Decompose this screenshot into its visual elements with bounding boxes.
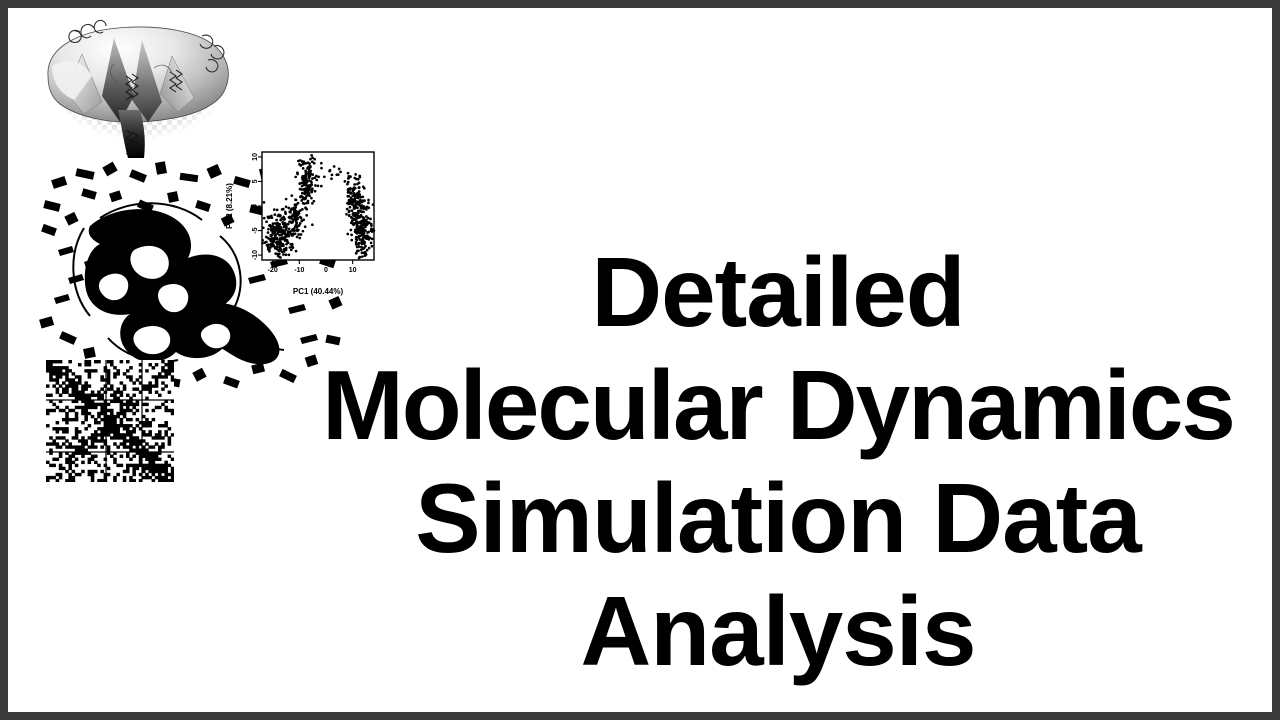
contact-map-cell [56, 366, 60, 369]
pca-data-point [290, 207, 293, 210]
contact-map-cell [110, 412, 114, 415]
contact-map-cell [81, 391, 85, 394]
contact-map-cell [78, 448, 82, 451]
contact-map-cell [155, 363, 159, 366]
contact-map-cell [158, 394, 162, 397]
contact-map-cell [75, 415, 79, 418]
pca-data-point [358, 231, 361, 234]
contact-map-cell [164, 461, 168, 464]
contact-map-cell [62, 467, 66, 470]
contact-map-cell [91, 436, 95, 439]
contact-map-cell [110, 409, 114, 412]
contact-map-cell [84, 418, 88, 421]
contact-map-cell [113, 427, 117, 430]
contact-map-cell [75, 473, 79, 476]
pca-data-point [354, 200, 357, 203]
contact-map-cell [129, 448, 133, 451]
contact-map-cell [107, 387, 111, 390]
contact-map-cell [158, 372, 162, 375]
contact-map-cell [148, 421, 152, 424]
contact-map-cell [78, 391, 82, 394]
contact-map-cell [168, 409, 172, 412]
contact-map-cell [171, 433, 174, 436]
contact-map-cell [100, 418, 104, 421]
pca-data-point [363, 232, 366, 235]
contact-map-cell [100, 436, 104, 439]
pca-data-point [276, 246, 279, 249]
contact-map-cell [116, 427, 120, 430]
contact-map-cell [91, 476, 95, 479]
contact-map-cell [145, 467, 149, 470]
pca-data-point [351, 209, 354, 212]
pca-data-point [281, 231, 284, 234]
pca-data-point [338, 168, 341, 171]
contact-map-cell [145, 476, 149, 479]
contact-map-cell [81, 442, 85, 445]
contact-map-cell [88, 445, 92, 448]
contact-map-cell [123, 412, 127, 415]
pca-data-point [271, 234, 274, 237]
pca-data-point [315, 179, 318, 182]
pca-data-point [368, 222, 371, 225]
contact-map-cell [155, 476, 159, 479]
pca-data-point [276, 241, 279, 244]
contact-map-cell [59, 436, 63, 439]
contact-map-cell [155, 458, 159, 461]
pca-data-point [299, 222, 302, 225]
contact-map-cell [68, 378, 72, 381]
contact-map-cell [78, 473, 82, 476]
contact-map-cell [56, 442, 60, 445]
pca-data-point [308, 175, 311, 178]
pca-data-point [295, 250, 298, 253]
contact-map-cell [52, 409, 56, 412]
contact-map-cell [72, 387, 76, 390]
contact-map-cell [97, 464, 101, 467]
contact-map-cell [97, 360, 101, 363]
contact-map-cell [136, 403, 140, 406]
pca-data-point [262, 226, 265, 229]
contact-map-cell [152, 467, 156, 470]
contact-map-cell [78, 430, 82, 433]
contact-map-cell [46, 424, 50, 427]
contact-map-cell [120, 381, 124, 384]
contact-map-cell [68, 461, 72, 464]
contact-map-cell [88, 424, 92, 427]
contact-map-cell [46, 476, 50, 479]
pca-data-point [352, 223, 355, 226]
contact-map-cell [104, 458, 108, 461]
contact-map-cell [97, 412, 101, 415]
contact-map-cell [148, 455, 152, 458]
contact-map-cell [126, 455, 130, 458]
pca-data-point [296, 171, 299, 174]
contact-map-cell [161, 467, 165, 470]
contact-map-cell [52, 384, 56, 387]
contact-map-cell [152, 366, 156, 369]
contact-map-cell [104, 476, 108, 479]
contact-map-cell [148, 430, 152, 433]
pca-data-point [288, 246, 291, 249]
contact-map-cell [59, 369, 63, 372]
contact-map-cell [49, 409, 53, 412]
contact-map-cell [110, 418, 114, 421]
contact-map-cell [116, 424, 120, 427]
contact-map-cell [65, 378, 69, 381]
contact-map-cell [113, 418, 117, 421]
contact-map-cell [164, 372, 168, 375]
contact-map-cell [148, 467, 152, 470]
contact-map-cell [81, 394, 85, 397]
pca-data-point [305, 214, 308, 217]
contact-map-cell [104, 473, 108, 476]
contact-map-cell [158, 476, 162, 479]
pca-data-point [330, 177, 333, 180]
contact-map-cell [100, 375, 104, 378]
contact-map-cell [94, 418, 98, 421]
contact-map-cell [72, 436, 76, 439]
pca-data-point [351, 190, 354, 193]
contact-map-cell [59, 476, 63, 479]
contact-map-cell [65, 479, 69, 482]
title-line-4: Analysis [308, 575, 1248, 688]
contact-map-cell [46, 479, 50, 482]
pca-data-point [372, 203, 375, 206]
contact-map-cell [49, 372, 53, 375]
contact-map-cell [59, 372, 63, 375]
contact-map-cell [132, 467, 136, 470]
contact-map-cell [171, 360, 174, 363]
contact-map-cell [158, 473, 162, 476]
contact-map-cell [155, 406, 159, 409]
pca-data-point [278, 256, 281, 259]
contact-map-cell [132, 448, 136, 451]
contact-map-cell [145, 387, 149, 390]
contact-map-cell [100, 406, 104, 409]
contact-map-cell [84, 363, 88, 366]
contact-map-cell [75, 433, 79, 436]
contact-map-cell [110, 455, 114, 458]
contact-map-cell [123, 387, 127, 390]
contact-map-cell [110, 363, 114, 366]
contact-map-cell [104, 391, 108, 394]
pca-data-point [285, 198, 288, 201]
contact-map-cell [107, 424, 111, 427]
contact-map-cell [168, 455, 172, 458]
contact-map-cell [107, 430, 111, 433]
pca-data-point [296, 230, 299, 233]
contact-map-cell [65, 421, 69, 424]
contact-map-cell [104, 442, 108, 445]
contact-map-cell [84, 427, 88, 430]
pca-data-point [358, 196, 361, 199]
contact-map-cell [126, 418, 130, 421]
pca-data-point [363, 221, 366, 224]
contact-map-cell [62, 381, 66, 384]
contact-map-cell [145, 433, 149, 436]
contact-map-cell [49, 378, 53, 381]
contact-map-cell [88, 360, 92, 363]
pca-data-point [366, 223, 369, 226]
pca-data-point [297, 213, 300, 216]
pca-data-point [263, 201, 266, 204]
pca-data-point [301, 192, 304, 195]
contact-map-cell [104, 409, 108, 412]
pca-data-point [302, 219, 305, 222]
contact-map-cell [68, 445, 72, 448]
contact-map-cell [65, 445, 69, 448]
contact-map-cell [107, 421, 111, 424]
contact-map-cell [126, 467, 130, 470]
contact-map-cell [104, 366, 108, 369]
contact-map-cell [72, 461, 76, 464]
contact-map-cell [164, 409, 168, 412]
pca-data-point [298, 182, 301, 185]
contact-map-cell [107, 418, 111, 421]
contact-map-cell [81, 455, 85, 458]
contact-map-cell [107, 415, 111, 418]
contact-map-cell [81, 384, 85, 387]
pca-data-point [357, 210, 360, 213]
contact-map-cell [59, 455, 63, 458]
pca-data-point [281, 208, 284, 211]
contact-map-cell [91, 473, 95, 476]
contact-map-cell [65, 412, 69, 415]
contact-map-cell [171, 369, 174, 372]
contact-map-cell [104, 415, 108, 418]
contact-map-cell [168, 391, 172, 394]
contact-map-cell [155, 433, 159, 436]
free-energy-landscape-surface [22, 10, 254, 158]
contact-map-cell [104, 406, 108, 409]
pca-data-point [314, 190, 317, 193]
pca-data-point [282, 237, 285, 240]
contact-map-cell [107, 378, 111, 381]
contact-map-cell [155, 470, 159, 473]
contact-map-cell [91, 406, 95, 409]
pca-data-point [267, 246, 270, 249]
pca-data-point [362, 211, 365, 214]
contact-map-cell [88, 406, 92, 409]
pca-data-point [313, 162, 316, 165]
contact-map-cell [129, 430, 133, 433]
pca-data-point [288, 253, 291, 256]
contact-map-cell [152, 470, 156, 473]
contact-map-cell [88, 369, 92, 372]
pca-data-point [348, 201, 351, 204]
pca-data-point [293, 210, 296, 213]
contact-map-cell [84, 415, 88, 418]
contact-map-cell [88, 436, 92, 439]
contact-map-cell [123, 424, 127, 427]
contact-map-cell [75, 427, 79, 430]
contact-map-cell [75, 436, 79, 439]
contact-map-cell [81, 421, 85, 424]
contact-map-cell [88, 394, 92, 397]
contact-map-cell [68, 384, 72, 387]
pca-data-point [271, 237, 274, 240]
contact-map-cell [161, 369, 165, 372]
contact-map-cell [52, 464, 56, 467]
contact-map-cell [62, 391, 66, 394]
contact-map-cell [152, 479, 156, 482]
contact-map-cell [164, 363, 168, 366]
pca-data-point [311, 177, 314, 180]
contact-map-cell [152, 473, 156, 476]
pca-data-point [296, 236, 299, 239]
contact-map-cell [72, 391, 76, 394]
pca-data-point [369, 218, 372, 221]
contact-map-cell [161, 381, 165, 384]
pca-data-point [287, 223, 290, 226]
contact-map-cell [120, 436, 124, 439]
contact-map-cell [56, 381, 60, 384]
contact-map-cell [155, 436, 159, 439]
contact-map-cell [120, 360, 124, 363]
contact-map-cell [148, 391, 152, 394]
pca-data-point [300, 195, 303, 198]
contact-map-cell [132, 455, 136, 458]
contact-map-cell [129, 479, 133, 482]
contact-map-cell [62, 442, 66, 445]
contact-map-cell [155, 375, 159, 378]
contact-map-cell [126, 430, 130, 433]
contact-map-cell [110, 424, 114, 427]
pca-data-point [297, 160, 300, 163]
title-line-2: Molecular Dynamics [308, 349, 1248, 462]
pca-data-point [317, 184, 320, 187]
contact-map-cell [136, 467, 140, 470]
pca-data-point [300, 199, 303, 202]
contact-map-cell [75, 375, 79, 378]
pca-data-point [350, 229, 353, 232]
contact-map-cell [110, 421, 114, 424]
contact-map-cell [126, 406, 130, 409]
pca-data-point [287, 207, 290, 210]
contact-map-cell [100, 430, 104, 433]
pca-data-point [304, 192, 307, 195]
pca-data-point [296, 217, 299, 220]
contact-map-cell [75, 384, 79, 387]
pca-data-point [320, 185, 323, 188]
contact-map-cell [94, 369, 98, 372]
contact-map-cell [59, 473, 63, 476]
contact-map-cell [171, 473, 174, 476]
contact-map-cell [78, 406, 82, 409]
pca-data-point [267, 228, 270, 231]
contact-map-cell [65, 415, 69, 418]
contact-map-cell [164, 470, 168, 473]
contact-map-cell [161, 360, 165, 363]
contact-map-cell [161, 479, 165, 482]
contact-map-cell [129, 418, 133, 421]
contact-map-cell [104, 464, 108, 467]
contact-map-cell [120, 406, 124, 409]
contact-map-cell [94, 461, 98, 464]
contact-map-cell [168, 479, 172, 482]
contact-map-cell [116, 445, 120, 448]
pca-data-point [271, 216, 274, 219]
contact-map-cell [104, 418, 108, 421]
contact-map-cell [94, 433, 98, 436]
pca-data-point [309, 180, 312, 183]
contact-map-cell [84, 394, 88, 397]
pca-data-point [365, 215, 368, 218]
contact-map-cell [104, 421, 108, 424]
contact-map-cell [168, 372, 172, 375]
contact-map-cell [46, 363, 50, 366]
contact-map-cell [126, 464, 130, 467]
contact-map-cell [148, 433, 152, 436]
contact-map-cell [148, 445, 152, 448]
contact-map-cell [126, 394, 130, 397]
pca-data-point [362, 216, 365, 219]
contact-map-cell [49, 476, 53, 479]
contact-map-cell [88, 412, 92, 415]
contact-map-cell [100, 394, 104, 397]
contact-map-cell [123, 427, 127, 430]
contact-map-cell [164, 369, 168, 372]
contact-map-cell [94, 445, 98, 448]
contact-map-cell [100, 433, 104, 436]
pca-data-point [307, 168, 310, 171]
contact-map-cell [59, 375, 63, 378]
pca-data-point [271, 240, 274, 243]
contact-map-cell [104, 378, 108, 381]
contact-map-cell [148, 476, 152, 479]
contact-map-cell [171, 479, 174, 482]
contact-map-cell [120, 442, 124, 445]
contact-map-cell [123, 442, 127, 445]
contact-map-cell [84, 403, 88, 406]
contact-map-cell [56, 391, 60, 394]
contact-map-cell [116, 372, 120, 375]
contact-map-cell [113, 375, 117, 378]
contact-map-cell [126, 375, 130, 378]
contact-map-cell [84, 360, 88, 363]
pca-data-point [273, 232, 276, 235]
contact-map-cell [81, 439, 85, 442]
pca-data-point [278, 223, 281, 226]
pca-data-point [276, 209, 279, 212]
pca-data-point [283, 225, 286, 228]
pca-data-point [294, 213, 297, 216]
contact-map-cell [88, 473, 92, 476]
pca-data-point [303, 179, 306, 182]
contact-map-cell [81, 448, 85, 451]
contact-map-cell [120, 391, 124, 394]
pca-data-point [354, 195, 357, 198]
contact-map-cell [116, 412, 120, 415]
contact-map-cell [46, 461, 50, 464]
contact-map-cell [113, 461, 117, 464]
contact-map-cell [132, 473, 136, 476]
contact-map-cell [132, 412, 136, 415]
contact-map-cell [107, 448, 111, 451]
contact-map-cell [65, 387, 69, 390]
contact-map-cell [152, 455, 156, 458]
contact-map-cell [78, 378, 82, 381]
pca-data-point [311, 173, 314, 176]
contact-map-cell [68, 473, 72, 476]
contact-map-cell [164, 473, 168, 476]
contact-map-cell [129, 442, 133, 445]
contact-map-cell [129, 436, 133, 439]
contact-map-cell [68, 464, 72, 467]
contact-map-cell [97, 394, 101, 397]
contact-map-cell [113, 476, 117, 479]
contact-map-cell [56, 473, 60, 476]
